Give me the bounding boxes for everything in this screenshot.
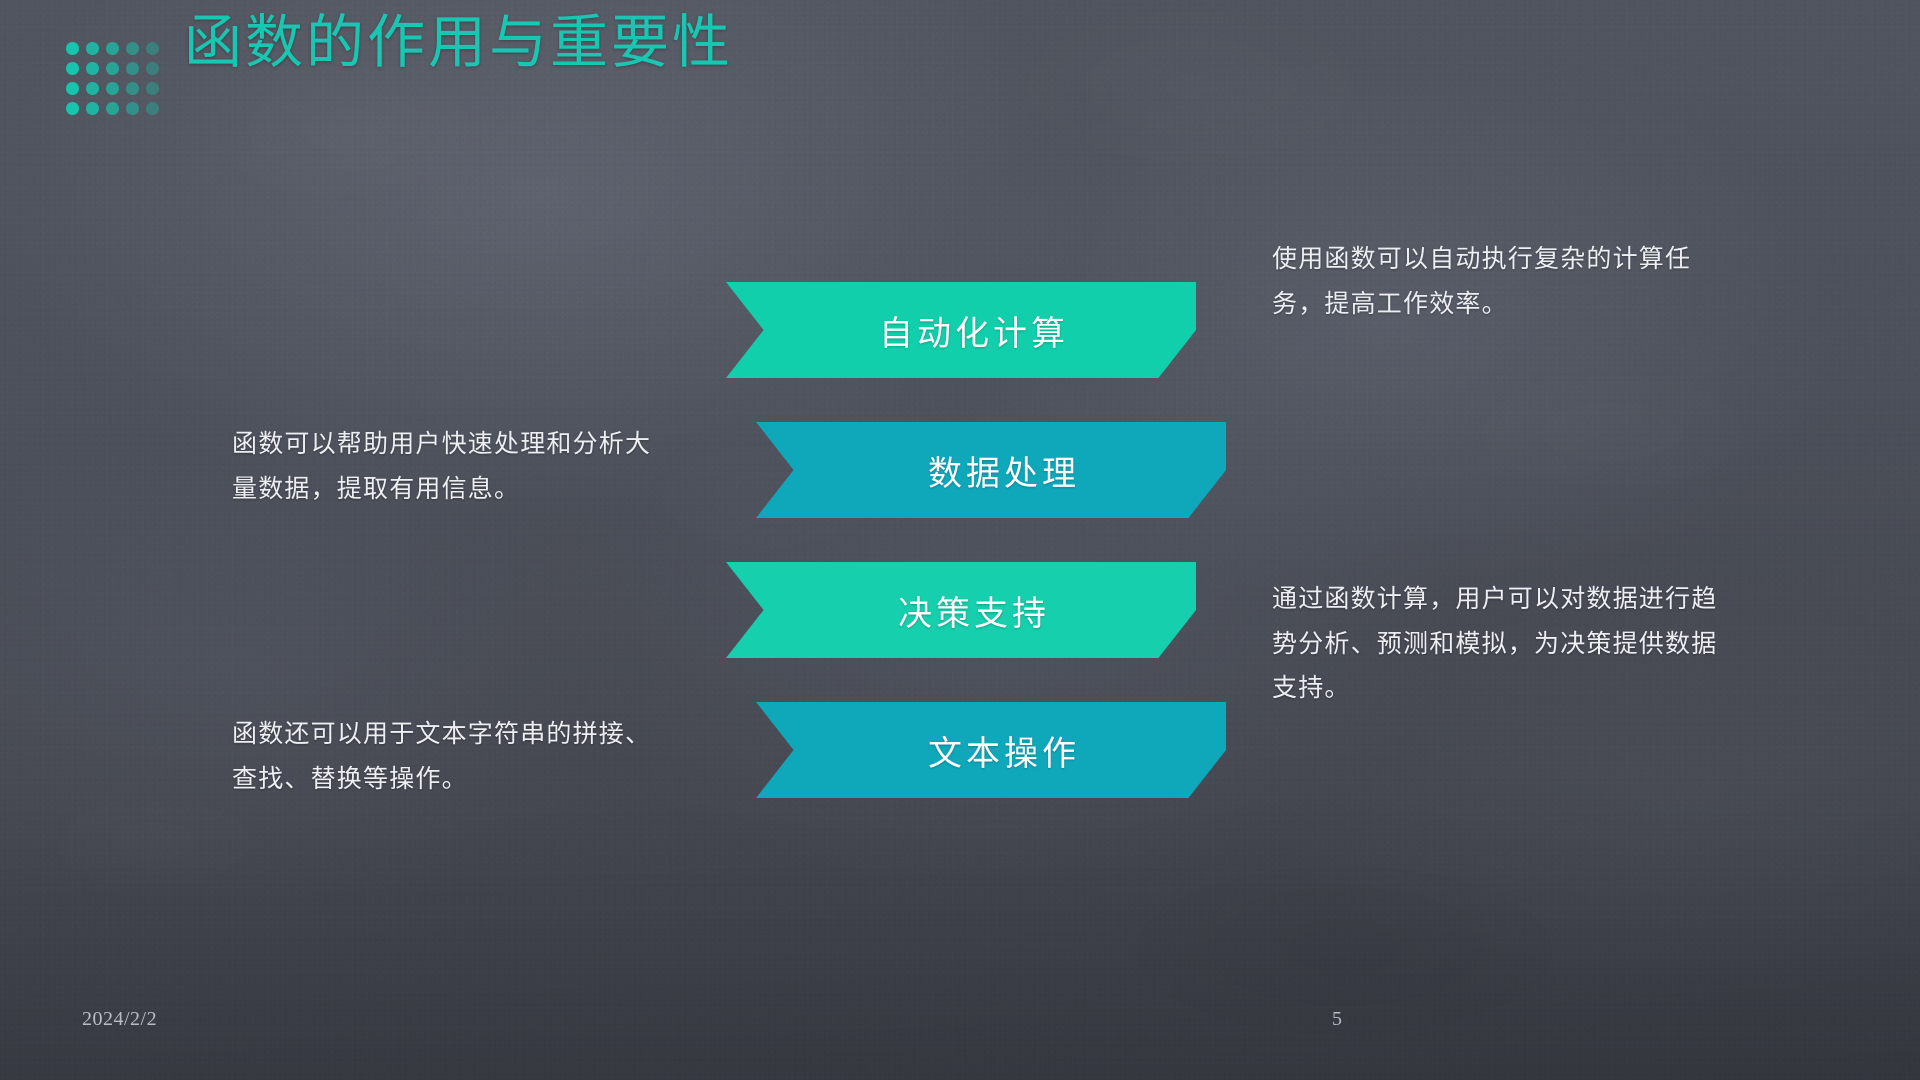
- dot-icon: [106, 42, 119, 55]
- dot-icon: [126, 42, 139, 55]
- chevron-band[interactable]: 数据处理: [756, 422, 1226, 518]
- chevron-band[interactable]: 决策支持: [726, 562, 1196, 658]
- dot-icon: [66, 42, 79, 55]
- note-text: 通过函数计算，用户可以对数据进行趋势分析、预测和模拟，为决策提供数据支持。: [1272, 578, 1742, 712]
- dot-icon: [126, 82, 139, 95]
- note-text: 使用函数可以自动执行复杂的计算任务，提高工作效率。: [1272, 238, 1742, 327]
- chevron-band[interactable]: 自动化计算: [726, 282, 1196, 378]
- note-text: 函数可以帮助用户快速处理和分析大量数据，提取有用信息。: [232, 423, 672, 512]
- slide-canvas: 函数的作用与重要性 自动化计算 数据处理 决策支持 文本操作 使用函数可以自动执…: [0, 0, 1920, 1080]
- dot-icon: [66, 102, 79, 115]
- chevron-label: 自动化计算: [726, 282, 1196, 378]
- dot-icon: [66, 62, 79, 75]
- dot-grid-decoration: [66, 42, 166, 122]
- dot-icon: [146, 62, 159, 75]
- footer-date: 2024/2/2: [82, 1008, 157, 1031]
- dot-icon: [86, 82, 99, 95]
- dot-icon: [106, 82, 119, 95]
- dot-icon: [146, 82, 159, 95]
- chevron-label: 数据处理: [756, 422, 1226, 518]
- note-text: 函数还可以用于文本字符串的拼接、查找、替换等操作。: [232, 713, 672, 802]
- dot-icon: [106, 102, 119, 115]
- chevron-label: 决策支持: [726, 562, 1196, 658]
- footer-page-number: 5: [1332, 1008, 1342, 1031]
- chevron-band[interactable]: 文本操作: [756, 702, 1226, 798]
- chevron-stack: 自动化计算 数据处理 决策支持 文本操作: [726, 282, 1196, 842]
- dot-icon: [126, 62, 139, 75]
- page-title: 函数的作用与重要性: [184, 8, 733, 78]
- dot-icon: [146, 42, 159, 55]
- dot-icon: [126, 102, 139, 115]
- dot-icon: [66, 82, 79, 95]
- dot-icon: [146, 102, 159, 115]
- dot-icon: [86, 102, 99, 115]
- chevron-label: 文本操作: [756, 702, 1226, 798]
- dot-icon: [86, 62, 99, 75]
- dot-icon: [86, 42, 99, 55]
- dot-icon: [106, 62, 119, 75]
